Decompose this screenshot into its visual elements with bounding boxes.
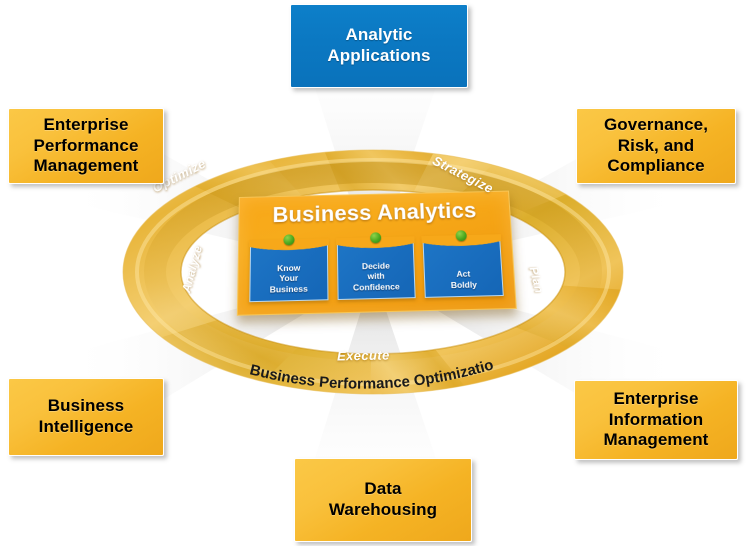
node-governance-risk-compliance[interactable]: Governance,Risk, andCompliance — [576, 108, 736, 184]
ring-caption: Business Performance Optimization — [247, 360, 499, 408]
card-label: ActBoldly — [450, 269, 478, 297]
node-analytic-applications[interactable]: AnalyticApplications — [290, 4, 468, 88]
svg-text:Business Performance Optimizat: Business Performance Optimization — [247, 360, 495, 393]
node-label: EnterpriseInformationManagement — [598, 389, 715, 451]
ring-caption-text: Business Performance Optimization — [247, 360, 495, 393]
node-label: DataWarehousing — [323, 479, 443, 520]
card-know-your-business[interactable]: KnowYourBusiness — [249, 238, 328, 302]
card-label: DecidewithConfidence — [353, 260, 401, 298]
node-enterprise-information-management[interactable]: EnterpriseInformationManagement — [574, 380, 738, 460]
diagram-canvas: Business Analytics KnowYourBusiness Deci… — [0, 0, 746, 546]
node-data-warehousing[interactable]: DataWarehousing — [294, 458, 472, 542]
card-decide-with-confidence[interactable]: DecidewithConfidence — [336, 236, 416, 300]
capability-cards: KnowYourBusiness DecidewithConfidence Ac… — [249, 234, 504, 302]
node-enterprise-performance-management[interactable]: EnterprisePerformanceManagement — [8, 108, 164, 184]
node-label: Governance,Risk, andCompliance — [598, 115, 714, 177]
node-label: AnalyticApplications — [321, 25, 436, 66]
node-business-intelligence[interactable]: BusinessIntelligence — [8, 378, 164, 456]
card-label: KnowYourBusiness — [270, 262, 308, 300]
node-label: BusinessIntelligence — [33, 396, 140, 437]
node-label: EnterprisePerformanceManagement — [27, 115, 144, 177]
central-plaque: Business Analytics KnowYourBusiness Deci… — [237, 191, 517, 316]
card-act-boldly[interactable]: ActBoldly — [423, 234, 504, 298]
